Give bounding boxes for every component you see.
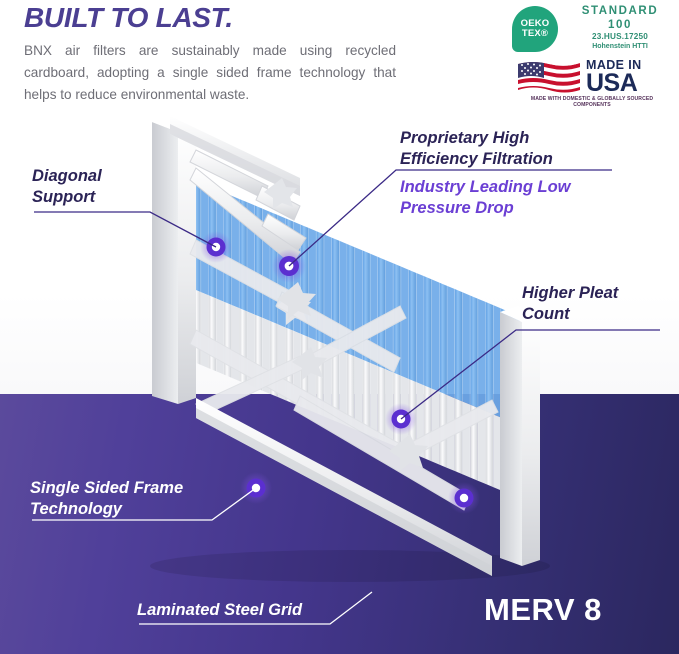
- callout-laminated-steel-grid: Laminated Steel Grid: [137, 600, 302, 621]
- callout-line-1: Laminated Steel Grid: [137, 600, 302, 621]
- callout-single-sided-frame: Single Sided Frame Technology: [30, 478, 183, 520]
- oeko-standard-number: 100: [566, 18, 674, 32]
- callout-higher-pleat-count: Higher Pleat Count: [522, 283, 618, 325]
- made-in-usa-badge: MADE IN USA MADE WITH DOMESTIC & GLOBALL…: [518, 58, 666, 108]
- frame-left-post: [152, 116, 196, 404]
- marker-proprietary-filtration[interactable]: [272, 249, 306, 283]
- callout-line-2: Technology: [30, 499, 183, 520]
- oeko-seal-line2: TEX®: [522, 29, 548, 40]
- intro-paragraph: BNX air filters are sustainably made usi…: [24, 40, 396, 106]
- callout-low-pressure-drop: Industry Leading Low Pressure Drop: [400, 177, 571, 219]
- callout-line-2: Pressure Drop: [400, 198, 571, 219]
- callout-line-2: Count: [522, 304, 618, 325]
- oeko-standard-word: STANDARD: [566, 4, 674, 18]
- oeko-tex-badge: OEKO TEX® STANDARD 100 23.HUS.17250 Hohe…: [512, 4, 674, 56]
- callout-line-1: Single Sided Frame: [30, 478, 183, 499]
- callout-proprietary-filtration: Proprietary High Efficiency Filtration: [400, 128, 553, 170]
- usa-label: USA: [586, 70, 637, 96]
- callout-line-2: Support: [32, 187, 102, 208]
- callout-line-2: Efficiency Filtration: [400, 149, 553, 170]
- merv-rating: MERV 8: [484, 592, 602, 628]
- oeko-certificate-block: 23.HUS.17250 Hohenstein HTTI: [566, 32, 674, 52]
- oeko-tex-seal-icon: OEKO TEX®: [512, 6, 558, 52]
- callout-line-1: Industry Leading Low: [400, 177, 571, 198]
- oeko-certificate-number: 23.HUS.17250: [566, 32, 674, 42]
- marker-single-sided-frame[interactable]: [240, 472, 272, 504]
- frame-right-post: [500, 306, 540, 566]
- usa-flag-icon: [518, 60, 580, 94]
- marker-higher-pleat-count[interactable]: [385, 403, 417, 435]
- marker-laminated-steel-grid[interactable]: [448, 482, 480, 514]
- infographic-canvas: BUILT TO LAST. BNX air filters are susta…: [0, 0, 679, 654]
- callout-line-1: Diagonal: [32, 166, 102, 187]
- callout-line-1: Proprietary High: [400, 128, 553, 149]
- marker-diagonal-support[interactable]: [200, 231, 232, 263]
- oeko-institute: Hohenstein HTTI: [566, 42, 674, 52]
- oeko-standard-label: STANDARD 100: [566, 4, 674, 32]
- usa-disclaimer: MADE WITH DOMESTIC & GLOBALLY SOURCED CO…: [518, 96, 666, 108]
- callout-diagonal-support: Diagonal Support: [32, 166, 102, 208]
- page-title: BUILT TO LAST.: [24, 2, 233, 34]
- callout-line-1: Higher Pleat: [522, 283, 618, 304]
